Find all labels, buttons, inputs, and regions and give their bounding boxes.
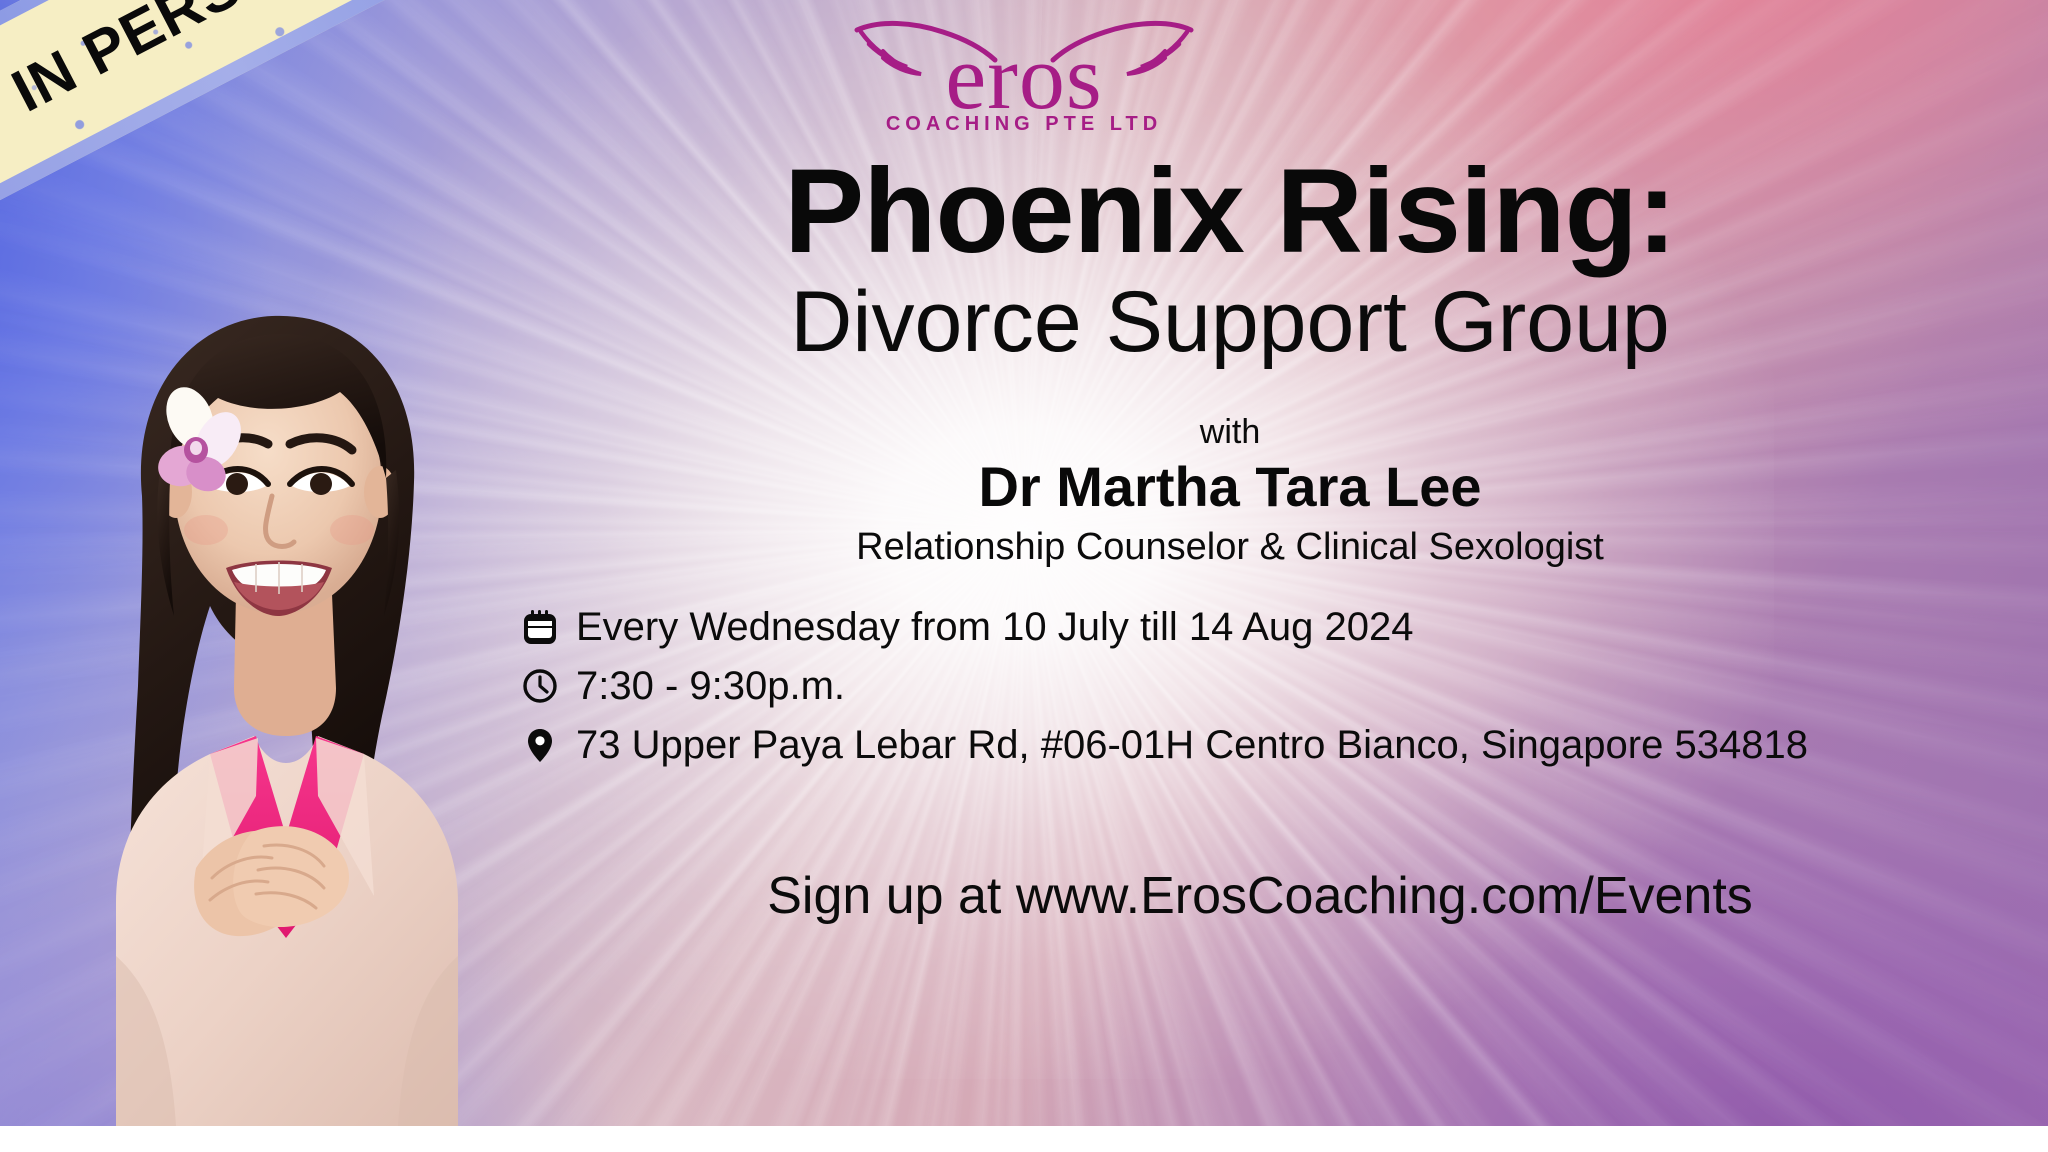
- detail-row-time: 7:30 - 9:30p.m.: [520, 664, 845, 709]
- with-label: with: [430, 413, 2030, 452]
- detail-row-date: Every Wednesday from 10 July till 14 Aug…: [520, 605, 1414, 650]
- event-banner: IN PERSON eros COACHING PTE LTD: [0, 0, 2048, 1126]
- detail-text-location: 73 Upper Paya Lebar Rd, #06-01H Centro B…: [576, 723, 1808, 768]
- presenter-credential: Relationship Counselor & Clinical Sexolo…: [430, 526, 2030, 569]
- bottom-white-strip: [0, 1126, 2048, 1152]
- banner-content: Phoenix Rising: Divorce Support Group wi…: [430, 150, 2030, 926]
- presenter-name: Dr Martha Tara Lee: [430, 456, 2030, 518]
- detail-text-date: Every Wednesday from 10 July till 14 Aug…: [576, 605, 1414, 650]
- signup-call-to-action[interactable]: Sign up at www.ErosCoaching.com/Events: [430, 866, 2030, 926]
- page-subtitle: Divorce Support Group: [430, 276, 2030, 369]
- detail-text-time: 7:30 - 9:30p.m.: [576, 664, 845, 709]
- event-details-list: Every Wednesday from 10 July till 14 Aug…: [430, 605, 2030, 768]
- detail-row-location: 73 Upper Paya Lebar Rd, #06-01H Centro B…: [520, 723, 1808, 768]
- presenter-portrait: [20, 196, 540, 1126]
- eros-logo-tagline: COACHING PTE LTD: [849, 113, 1199, 136]
- page-title: Phoenix Rising:: [430, 150, 2030, 272]
- eros-logo: eros COACHING PTE LTD: [849, 4, 1199, 154]
